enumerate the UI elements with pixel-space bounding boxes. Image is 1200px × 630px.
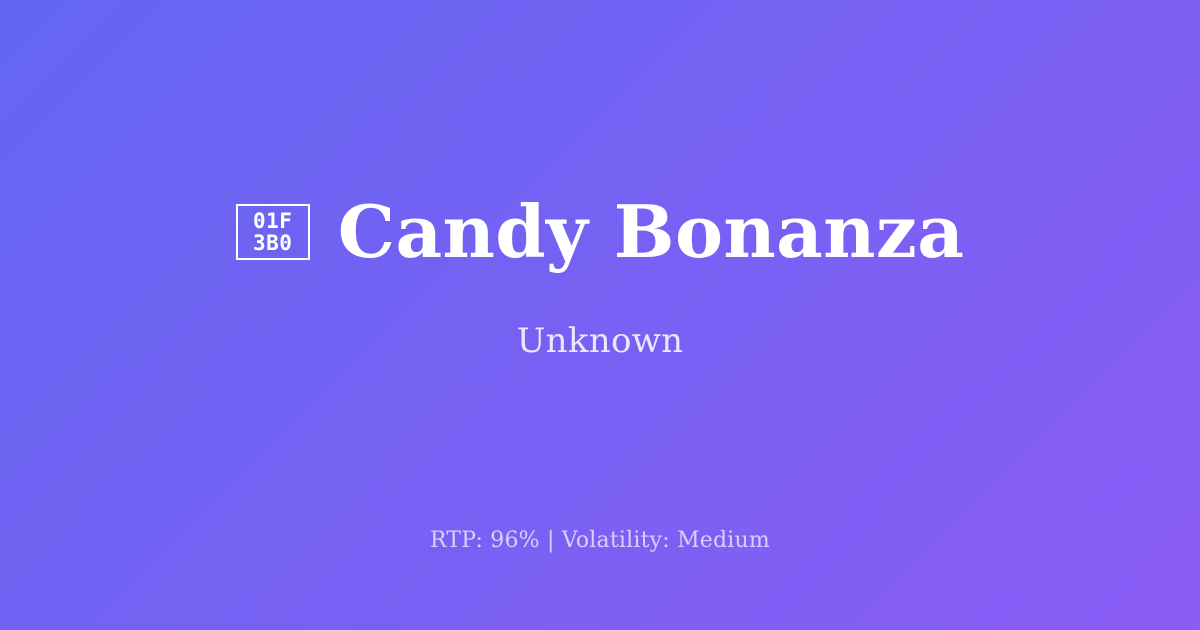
hero-block: 01F 3B0 Candy Bonanza Unknown [236, 196, 965, 358]
slot-machine-icon: 01F 3B0 [236, 204, 310, 260]
codepoint-top: 01F [253, 211, 292, 232]
game-share-card: 01F 3B0 Candy Bonanza Unknown RTP: 96% |… [0, 0, 1200, 630]
codepoint-bottom: 3B0 [253, 233, 292, 254]
page-title: Candy Bonanza [338, 196, 965, 268]
game-meta-line: RTP: 96% | Volatility: Medium [0, 530, 1200, 552]
provider-label: Unknown [517, 324, 684, 358]
headline: 01F 3B0 Candy Bonanza [236, 196, 965, 268]
